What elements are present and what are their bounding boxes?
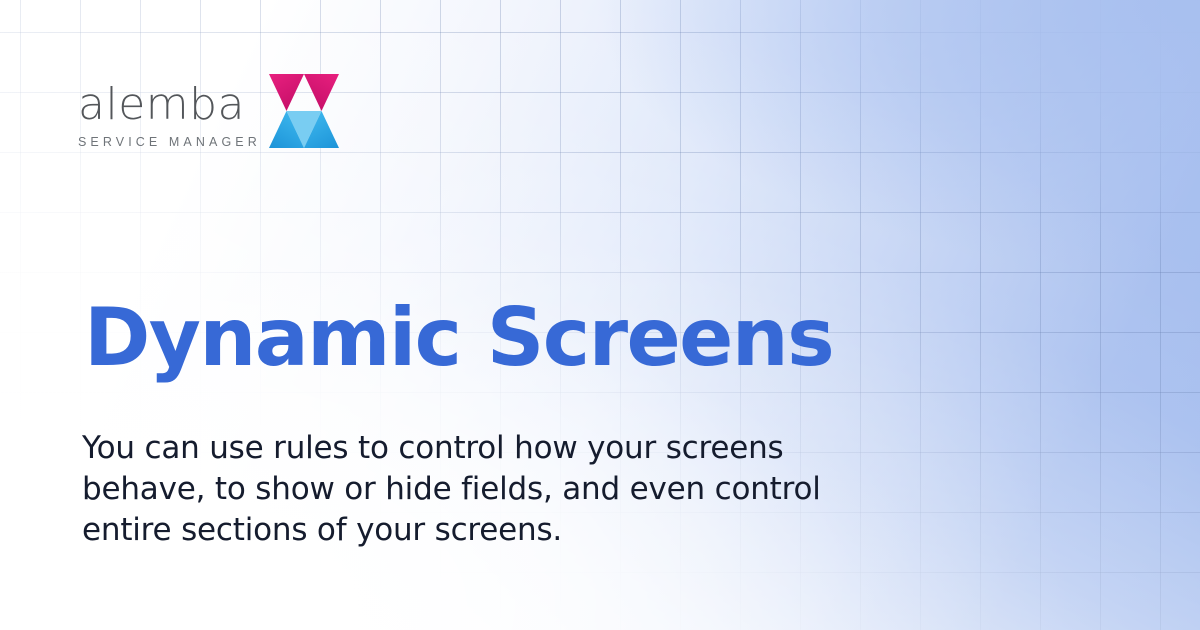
logo-wordmark: alemba <box>78 83 261 127</box>
subtitle-line: You can use rules to control how your sc… <box>82 428 882 469</box>
page-subtitle: You can use rules to control how your sc… <box>82 428 882 551</box>
logo-tagline: SERVICE MANAGER <box>78 136 261 149</box>
promo-banner: alemba SERVICE MANAGER <box>0 0 1200 630</box>
subtitle-line: behave, to show or hide fields, and even… <box>82 469 882 510</box>
subtitle-line: entire sections of your screens. <box>82 510 882 551</box>
page-title: Dynamic Screens <box>84 296 833 381</box>
alemba-logo: alemba SERVICE MANAGER <box>78 72 339 150</box>
logo-text-block: alemba SERVICE MANAGER <box>78 83 261 151</box>
alemba-x-logo-icon <box>269 72 339 150</box>
